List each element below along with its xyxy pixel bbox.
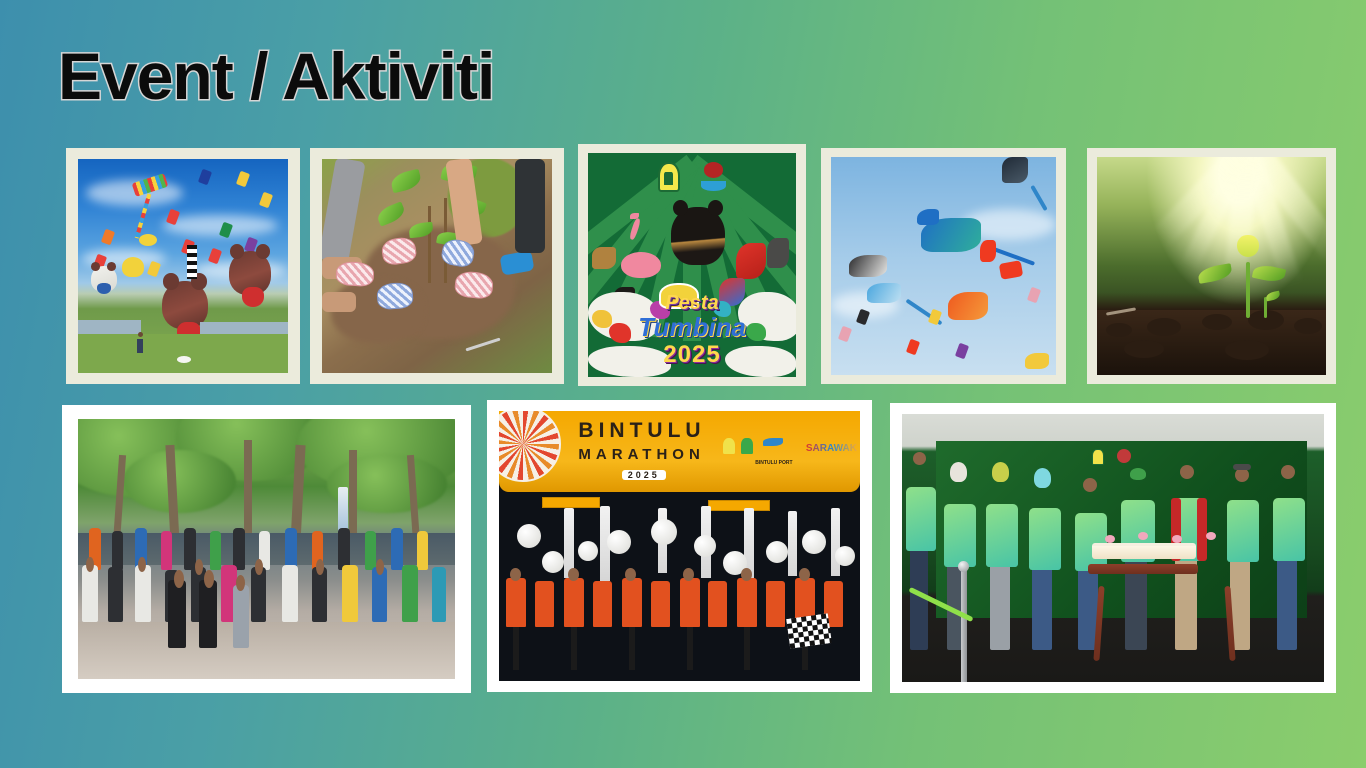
page-title: Event / Aktiviti: [58, 38, 494, 114]
photo-frame-kite-festival-field[interactable]: [66, 148, 300, 384]
photo-bintulu-marathon-start: BINTULU MARATHON 2025 BINTULU PORT SARAW…: [499, 411, 860, 681]
bintulu-port-label: BINTULU PORT: [755, 460, 792, 466]
photo-frame-seedling-sunlight[interactable]: [1087, 148, 1336, 384]
council-logo: [1117, 449, 1131, 463]
sarawak-label: SARAWAK: [806, 443, 857, 454]
globe-emblem-logo: [700, 162, 726, 192]
stanchion-post: [961, 569, 967, 682]
photo-frame-park-group-run[interactable]: [62, 405, 471, 693]
bintulu-port-logo: [763, 438, 783, 446]
state-crest-logo: [723, 438, 735, 454]
marathon-year: 2025: [622, 470, 666, 480]
marathon-subtitle: MARATHON: [578, 446, 704, 463]
photo-pesta-tumbina-poster: Pesta Tumbina 2025: [588, 153, 796, 377]
photo-frame-pesta-tumbina-poster[interactable]: Pesta Tumbina 2025: [578, 144, 806, 386]
sprout-top-leaf: [1237, 235, 1259, 257]
photo-park-group-run: [78, 419, 455, 679]
council-logo: [741, 438, 753, 454]
photo-frame-animal-kites-sky[interactable]: [821, 148, 1066, 384]
poster-logo-row: [588, 162, 796, 192]
photo-frame-cake-cutting-ceremony[interactable]: [890, 403, 1336, 693]
photo-cake-cutting-ceremony: [902, 414, 1324, 682]
photo-frame-tree-planting-hands[interactable]: [310, 148, 564, 384]
state-crest-logo: [658, 162, 680, 192]
ceremony-cake: [1092, 543, 1196, 559]
photo-seedling-sunlight: [1097, 157, 1326, 375]
photo-animal-kites-sky: [831, 157, 1056, 375]
scarlet-macaw-graphic: [736, 243, 766, 279]
poster-line2: Tumbina: [588, 312, 796, 343]
state-crest-logo: [1092, 449, 1104, 465]
poster-line3: 2025: [588, 341, 796, 369]
sprout-stem: [1246, 262, 1250, 319]
photo-kite-festival-field: [78, 159, 288, 373]
ceremony-table: [1088, 564, 1198, 574]
orange-animal-kite: [948, 292, 988, 320]
photo-tree-planting-hands: [322, 159, 552, 373]
checkered-flag: [786, 613, 832, 649]
sun-bear-graphic: [671, 207, 725, 265]
photo-frame-bintulu-marathon-start[interactable]: BINTULU MARATHON 2025 BINTULU PORT SARAW…: [487, 400, 872, 692]
flamingo-graphic: [621, 252, 661, 278]
marathon-title: BINTULU: [578, 419, 705, 443]
